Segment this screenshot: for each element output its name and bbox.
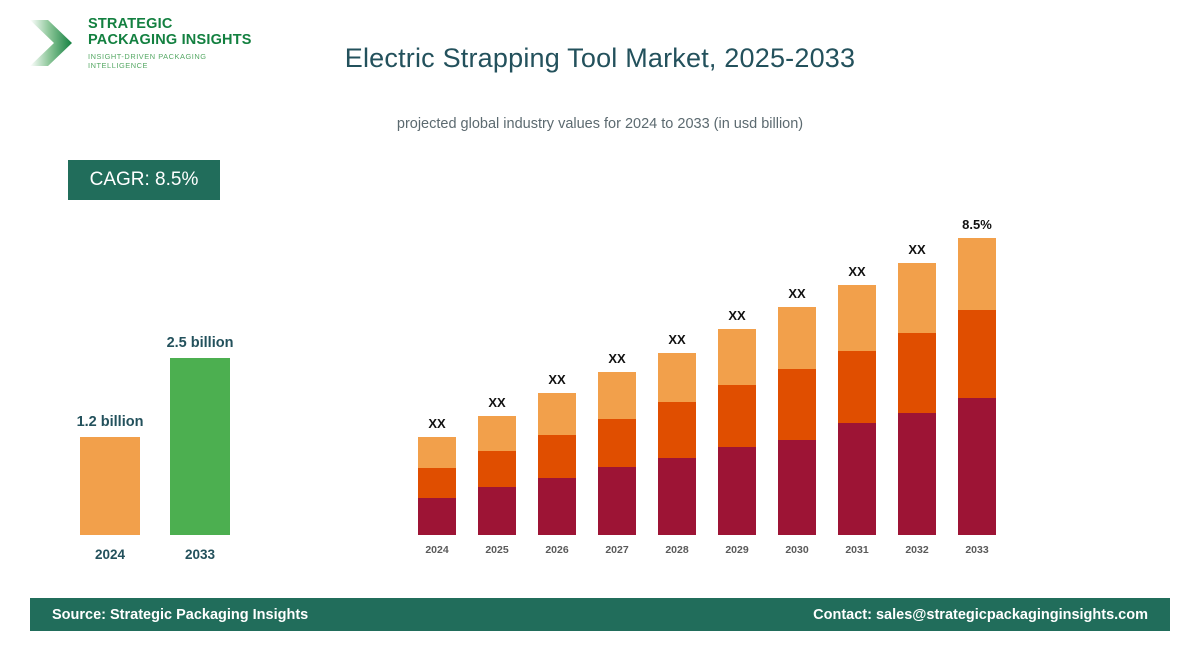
bar-year-label-2033: 2033 (942, 544, 1012, 556)
bar-value-label-2029: XX (702, 308, 772, 323)
comparison-value-2024: 1.2 billion (50, 414, 170, 430)
bar-segment-segment-3-2028 (658, 353, 696, 402)
stacked-bar-2026 (538, 393, 576, 535)
bar-segment-segment-3-2029 (718, 329, 756, 385)
cagr-badge: CAGR: 8.5% (68, 160, 220, 200)
stacked-bar-2028 (658, 353, 696, 535)
bar-value-label-2024: XX (402, 416, 472, 431)
page-title: Electric Strapping Tool Market, 2025-203… (200, 43, 1000, 74)
stacked-bar-2025 (478, 416, 516, 535)
bar-value-label-2030: XX (762, 286, 832, 301)
footer-contact[interactable]: Contact: sales@strategicpackaginginsight… (813, 607, 1148, 623)
footer-source: Source: Strategic Packaging Insights (52, 607, 308, 623)
bar-segment-segment-3-2025 (478, 416, 516, 451)
bar-segment-segment-2-2032 (898, 333, 936, 413)
comparison-year-2033: 2033 (140, 547, 260, 562)
bar-segment-segment-2-2025 (478, 451, 516, 487)
endpoint-comparison-chart: 1.2 billion 2.5 billion 2024 2033 (60, 310, 260, 570)
bar-segment-segment-2-2027 (598, 419, 636, 467)
bar-segment-segment-1-2031 (838, 423, 876, 535)
bar-segment-segment-3-2030 (778, 307, 816, 369)
bar-value-label-2025: XX (462, 395, 532, 410)
comparison-value-2033: 2.5 billion (140, 335, 260, 351)
infographic-canvas: STRATEGIC PACKAGING INSIGHTS INSIGHT-DRI… (0, 0, 1200, 650)
stacked-bar-2024 (418, 437, 456, 535)
bar-segment-segment-1-2032 (898, 413, 936, 535)
bar-segment-segment-1-2033 (958, 398, 996, 535)
bar-segment-segment-2-2033 (958, 310, 996, 398)
stacked-bar-2031 (838, 285, 876, 535)
footer-bar: Source: Strategic Packaging Insights Con… (30, 598, 1170, 631)
bar-value-label-2033: 8.5% (942, 217, 1012, 232)
bar-segment-segment-1-2027 (598, 467, 636, 535)
bar-segment-segment-1-2028 (658, 458, 696, 535)
bar-segment-segment-3-2033 (958, 238, 996, 310)
bar-segment-segment-1-2025 (478, 487, 516, 535)
bar-value-label-2032: XX (882, 242, 952, 257)
bar-segment-segment-3-2031 (838, 285, 876, 351)
bar-segment-segment-3-2026 (538, 393, 576, 435)
bar-value-label-2028: XX (642, 332, 712, 347)
bar-segment-segment-1-2024 (418, 498, 456, 535)
stacked-forecast-chart: XX2024XX2025XX2026XX2027XX2028XX2029XX20… (412, 200, 1012, 560)
bar-segment-segment-2-2031 (838, 351, 876, 423)
comparison-bar-2024 (80, 437, 140, 535)
bar-segment-segment-2-2024 (418, 468, 456, 498)
stacked-bar-2029 (718, 329, 756, 535)
comparison-bar-2033 (170, 358, 230, 535)
bar-segment-segment-2-2029 (718, 385, 756, 447)
bar-segment-segment-3-2027 (598, 372, 636, 419)
stacked-bar-2027 (598, 372, 636, 535)
bar-segment-segment-1-2026 (538, 478, 576, 535)
bar-segment-segment-3-2024 (418, 437, 456, 468)
stacked-bar-2030 (778, 307, 816, 535)
bar-segment-segment-1-2030 (778, 440, 816, 535)
bar-segment-segment-3-2032 (898, 263, 936, 333)
stacked-bar-2033 (958, 238, 996, 535)
stacked-bar-2032 (898, 263, 936, 535)
page-subtitle: projected global industry values for 202… (200, 116, 1000, 132)
bar-segment-segment-1-2029 (718, 447, 756, 535)
bar-value-label-2027: XX (582, 351, 652, 366)
bar-value-label-2026: XX (522, 372, 592, 387)
bar-value-label-2031: XX (822, 264, 892, 279)
brand-line-1: STRATEGIC (88, 16, 268, 32)
bar-segment-segment-2-2028 (658, 402, 696, 458)
bar-segment-segment-2-2030 (778, 369, 816, 440)
bar-segment-segment-2-2026 (538, 435, 576, 478)
chevron-logo-icon (28, 18, 82, 68)
